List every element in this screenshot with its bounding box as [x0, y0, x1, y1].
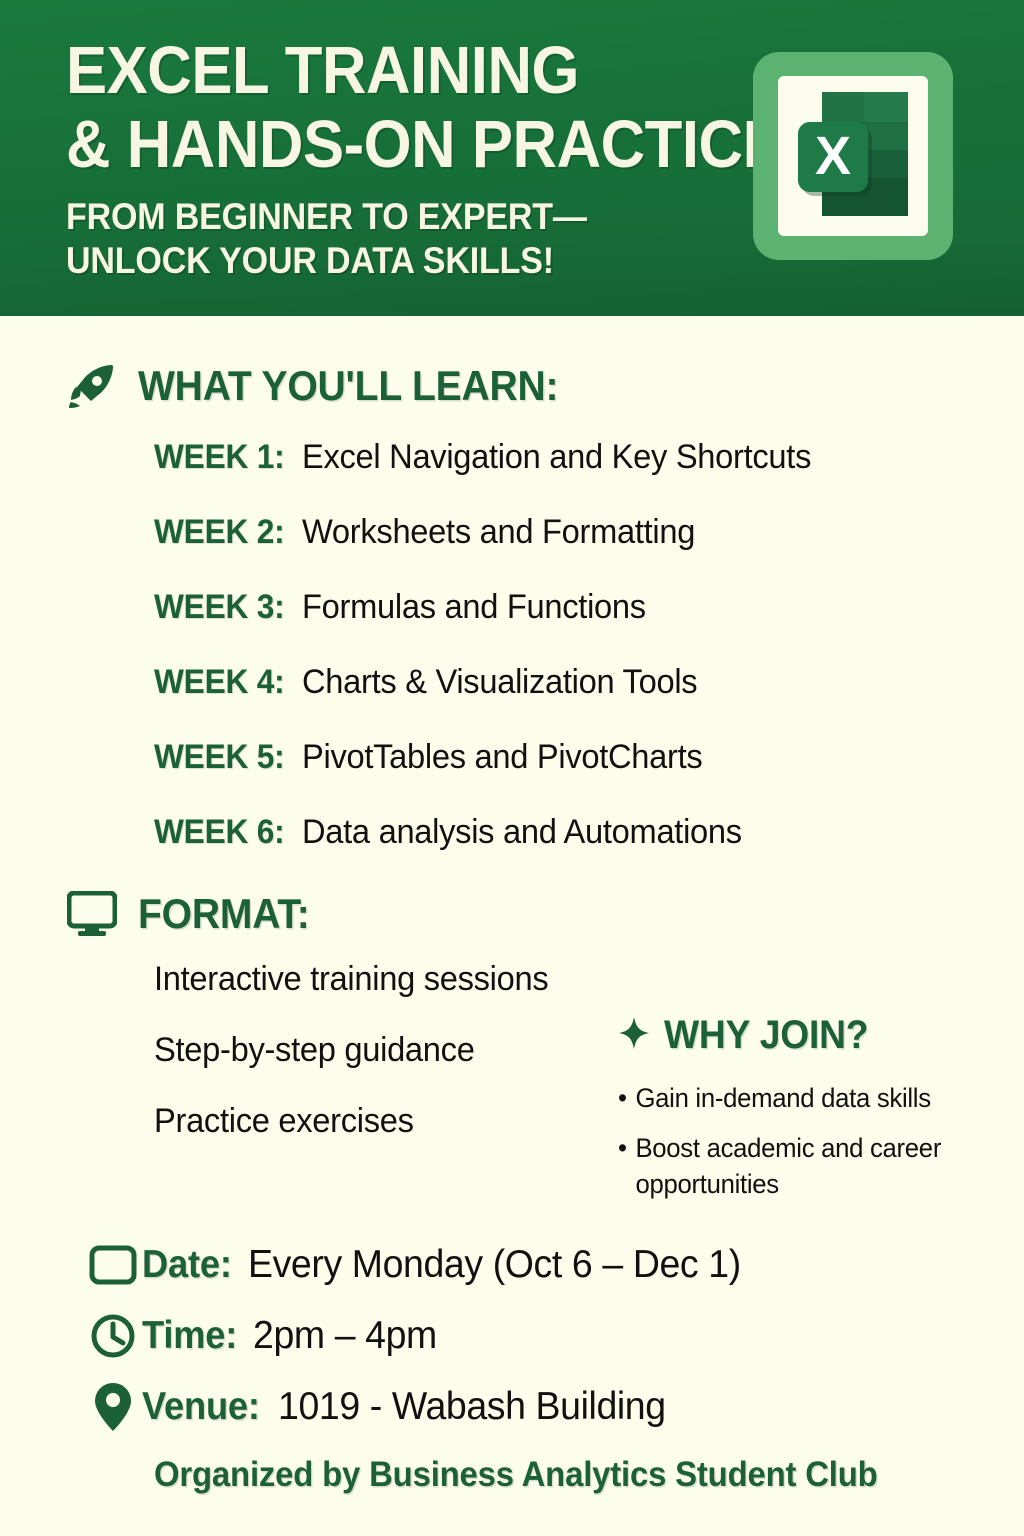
organizer-text: Organized by Business Analytics Student …: [154, 1455, 972, 1495]
svg-text:X: X: [815, 126, 851, 186]
event-details: Date: Every Monday (Oct 6 – Dec 1) Time:…: [0, 1238, 1024, 1495]
event-poster: EXCEL TRAINING & HANDS-ON PRACTICE FROM …: [0, 0, 1024, 1536]
excel-logo-badge: X: [753, 52, 953, 260]
week-label: WEEK 2:: [154, 513, 284, 552]
monitor-icon: [64, 888, 120, 940]
format-item: Interactive training sessions: [154, 962, 989, 996]
why-join-item: • Boost academic and career opportunitie…: [618, 1130, 1006, 1202]
excel-logo-plate: X: [778, 76, 928, 236]
detail-row-venue: Venue: 1019 - Wabash Building: [84, 1380, 1024, 1434]
week-row: WEEK 2: Worksheets and Formatting: [154, 513, 1024, 552]
detail-row-date: Date: Every Monday (Oct 6 – Dec 1): [84, 1238, 1024, 1292]
clock-icon: [84, 1309, 142, 1363]
detail-value: Every Monday (Oct 6 – Dec 1): [248, 1243, 741, 1287]
poster-header: EXCEL TRAINING & HANDS-ON PRACTICE FROM …: [0, 0, 1024, 316]
week-topic: Excel Navigation and Key Shortcuts: [302, 438, 811, 477]
excel-logo-icon: X: [798, 90, 910, 222]
why-join-heading-label: WHY JOIN?: [664, 1013, 868, 1058]
why-join-item-text: Boost academic and career opportunities: [635, 1130, 1006, 1202]
poster-subtitle-line-1: FROM BEGINNER TO EXPERT—: [66, 195, 710, 239]
week-row: WEEK 6: Data analysis and Automations: [154, 813, 1024, 852]
poster-title-line-2: & HANDS-ON PRACTICE: [66, 108, 710, 182]
week-topic: Data analysis and Automations: [302, 813, 742, 852]
detail-label: Venue:: [142, 1385, 260, 1429]
calendar-icon: [84, 1238, 142, 1292]
weeks-list: WEEK 1: Excel Navigation and Key Shortcu…: [0, 438, 1024, 852]
week-row: WEEK 1: Excel Navigation and Key Shortcu…: [154, 438, 1024, 477]
bullet-glyph: •: [618, 1080, 627, 1116]
header-text-block: EXCEL TRAINING & HANDS-ON PRACTICE FROM …: [66, 34, 766, 283]
week-label: WEEK 6:: [154, 813, 284, 852]
week-label: WEEK 5:: [154, 738, 284, 777]
week-row: WEEK 3: Formulas and Functions: [154, 588, 1024, 627]
poster-title-line-1: EXCEL TRAINING: [66, 34, 710, 108]
detail-row-time: Time: 2pm – 4pm: [84, 1309, 1024, 1363]
learn-section-heading: WHAT YOU'LL LEARN:: [64, 360, 1024, 412]
why-join-section: WHY JOIN? • Gain in-demand data skills •…: [618, 1013, 1018, 1216]
learn-heading-label: WHAT YOU'LL LEARN:: [138, 362, 558, 410]
detail-label: Time:: [142, 1314, 237, 1358]
week-topic: Formulas and Functions: [302, 588, 646, 627]
week-label: WEEK 1:: [154, 438, 284, 477]
week-topic: PivotTables and PivotCharts: [302, 738, 702, 777]
detail-value: 1019 - Wabash Building: [278, 1385, 666, 1429]
poster-subtitle-line-2: UNLOCK YOUR DATA SKILLS!: [66, 239, 710, 283]
format-section-heading: FORMAT:: [64, 888, 1024, 940]
poster-subtitle-block: FROM BEGINNER TO EXPERT— UNLOCK YOUR DAT…: [66, 195, 766, 283]
why-join-heading: WHY JOIN?: [618, 1013, 1018, 1058]
bullet-glyph: •: [618, 1130, 627, 1202]
week-topic: Charts & Visualization Tools: [302, 663, 697, 702]
detail-label: Date:: [142, 1243, 232, 1287]
week-topic: Worksheets and Formatting: [302, 513, 695, 552]
why-join-item: • Gain in-demand data skills: [618, 1080, 1006, 1116]
week-label: WEEK 4:: [154, 663, 284, 702]
why-join-items-list: • Gain in-demand data skills • Boost aca…: [618, 1080, 1018, 1202]
detail-value: 2pm – 4pm: [253, 1314, 437, 1358]
poster-body: WHAT YOU'LL LEARN: WEEK 1: Excel Navigat…: [0, 316, 1024, 1175]
location-pin-icon: [84, 1380, 142, 1434]
why-join-item-text: Gain in-demand data skills: [635, 1080, 930, 1116]
week-label: WEEK 3:: [154, 588, 284, 627]
format-heading-label: FORMAT:: [138, 890, 310, 938]
week-row: WEEK 5: PivotTables and PivotCharts: [154, 738, 1024, 777]
week-row: WEEK 4: Charts & Visualization Tools: [154, 663, 1024, 702]
rocket-icon: [64, 360, 120, 412]
sparkle-icon: [618, 1016, 650, 1055]
